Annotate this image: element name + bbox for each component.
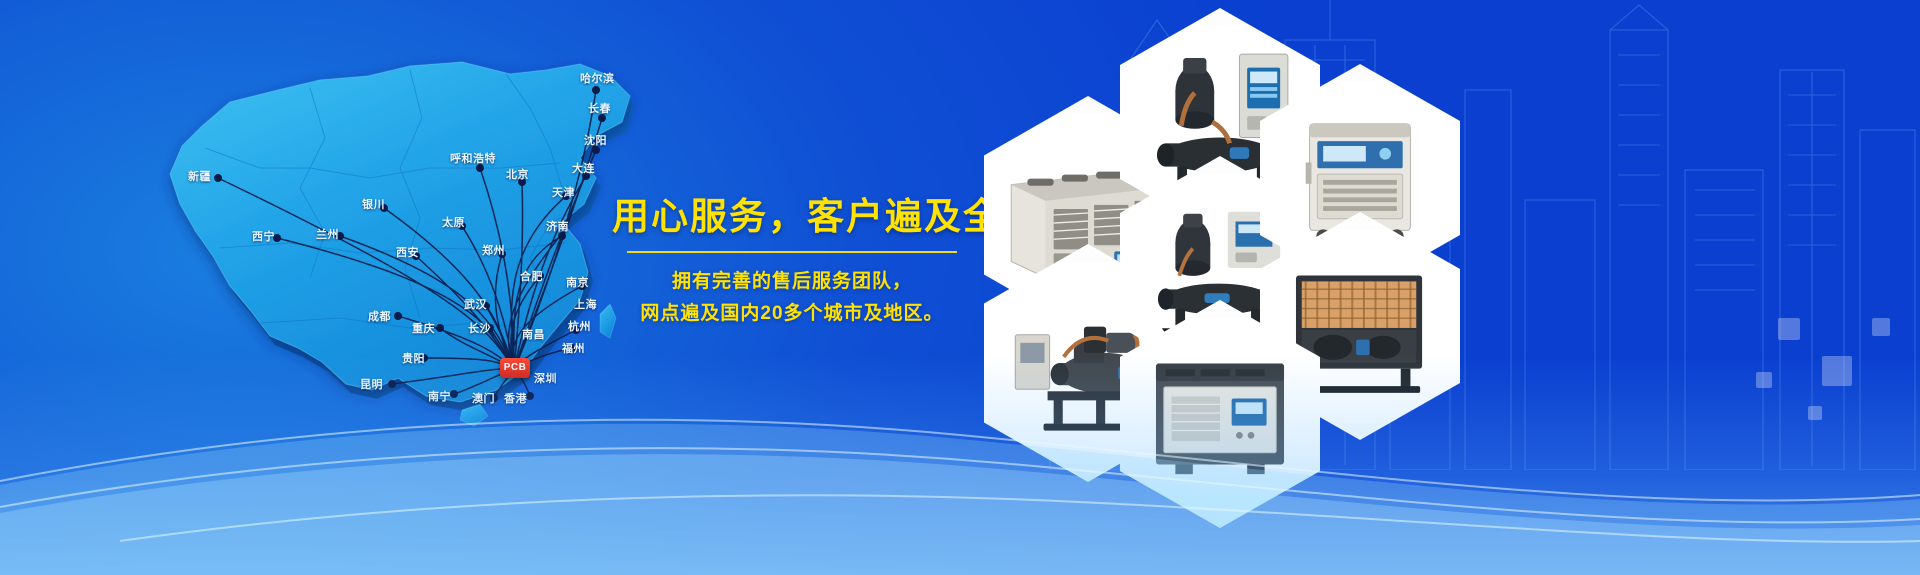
- hub-marker-pcb: PCB: [500, 358, 530, 378]
- decor-square-4: [1872, 318, 1890, 336]
- decor-square-2: [1822, 356, 1852, 386]
- page-title: 用心服务，客户遍及全国: [612, 196, 972, 237]
- china-map-svg: [110, 18, 690, 438]
- headline-block: 用心服务，客户遍及全国 拥有完善的售后服务团队， 网点遍及国内20多个城市及地区…: [612, 196, 972, 329]
- title-divider: [627, 251, 957, 253]
- decor-square-5: [1808, 406, 1822, 420]
- decor-square-3: [1756, 372, 1772, 388]
- decor-square-1: [1778, 318, 1800, 340]
- china-map: 哈尔滨 长春 沈阳 呼和浩特 北京 天津 大连 新疆 银川 太原 西宁 兰州 西…: [110, 18, 690, 438]
- subtitle-line-1: 拥有完善的售后服务团队，: [612, 266, 972, 297]
- promo-banner: 哈尔滨 长春 沈阳 呼和浩特 北京 天津 大连 新疆 银川 太原 西宁 兰州 西…: [0, 0, 1920, 575]
- subtitle-line-2: 网点遍及国内20多个城市及地区。: [612, 298, 972, 329]
